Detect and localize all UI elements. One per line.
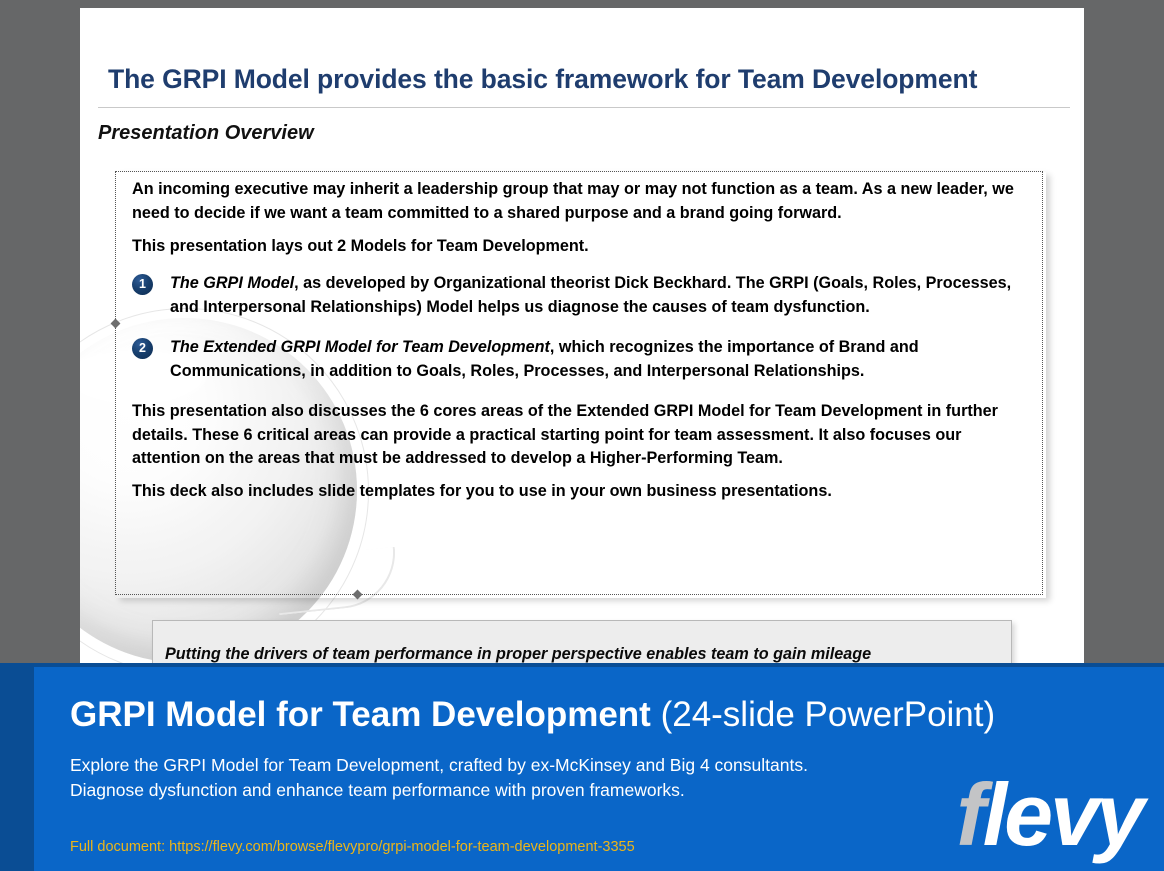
resize-handle-bottom[interactable] [353,590,363,600]
list-item-emphasis: The GRPI Model [170,274,294,292]
title-divider [98,107,1070,108]
list-item-text: , as developed by Organizational theoris… [170,274,1011,316]
flevy-logo: flevy [956,771,1142,859]
flevy-logo-levy: levy [983,765,1142,864]
list-item: 2 The Extended GRPI Model for Team Devel… [132,336,1030,384]
product-description: Explore the GRPI Model for Team Developm… [70,753,810,803]
overview-paragraph-4: This deck also includes slide templates … [132,480,1030,504]
product-title: GRPI Model for Team Development (24-slid… [70,695,995,735]
takeaway-box: Putting the drivers of team performance … [152,620,1012,663]
flevy-banner-body: GRPI Model for Team Development (24-slid… [34,667,1164,871]
flevy-banner: GRPI Model for Team Development (24-slid… [0,663,1164,871]
number-badge-1: 1 [132,274,153,295]
product-title-strong: GRPI Model for Team Development [70,695,651,734]
page-title: The GRPI Model provides the basic framew… [108,64,1068,95]
slide-canvas: The GRPI Model provides the basic framew… [80,8,1084,663]
section-subtitle: Presentation Overview [98,122,314,145]
overview-paragraph-2: This presentation lays out 2 Models for … [132,235,1030,259]
flevy-logo-f: f [956,765,982,864]
takeaway-text: Putting the drivers of team performance … [165,645,871,663]
overview-paragraph-1: An incoming executive may inherit a lead… [132,178,1030,226]
product-title-light: (24-slide PowerPoint) [651,695,995,734]
list-item-emphasis: The Extended GRPI Model for Team Develop… [170,338,550,356]
number-badge-2: 2 [132,338,153,359]
resize-handle-left[interactable] [111,319,121,329]
overview-paragraph-3: This presentation also discusses the 6 c… [132,400,1030,471]
overview-body: An incoming executive may inherit a lead… [132,178,1030,513]
list-item: 1 The GRPI Model, as developed by Organi… [132,272,1030,320]
product-url[interactable]: Full document: https://flevy.com/browse/… [70,839,635,855]
